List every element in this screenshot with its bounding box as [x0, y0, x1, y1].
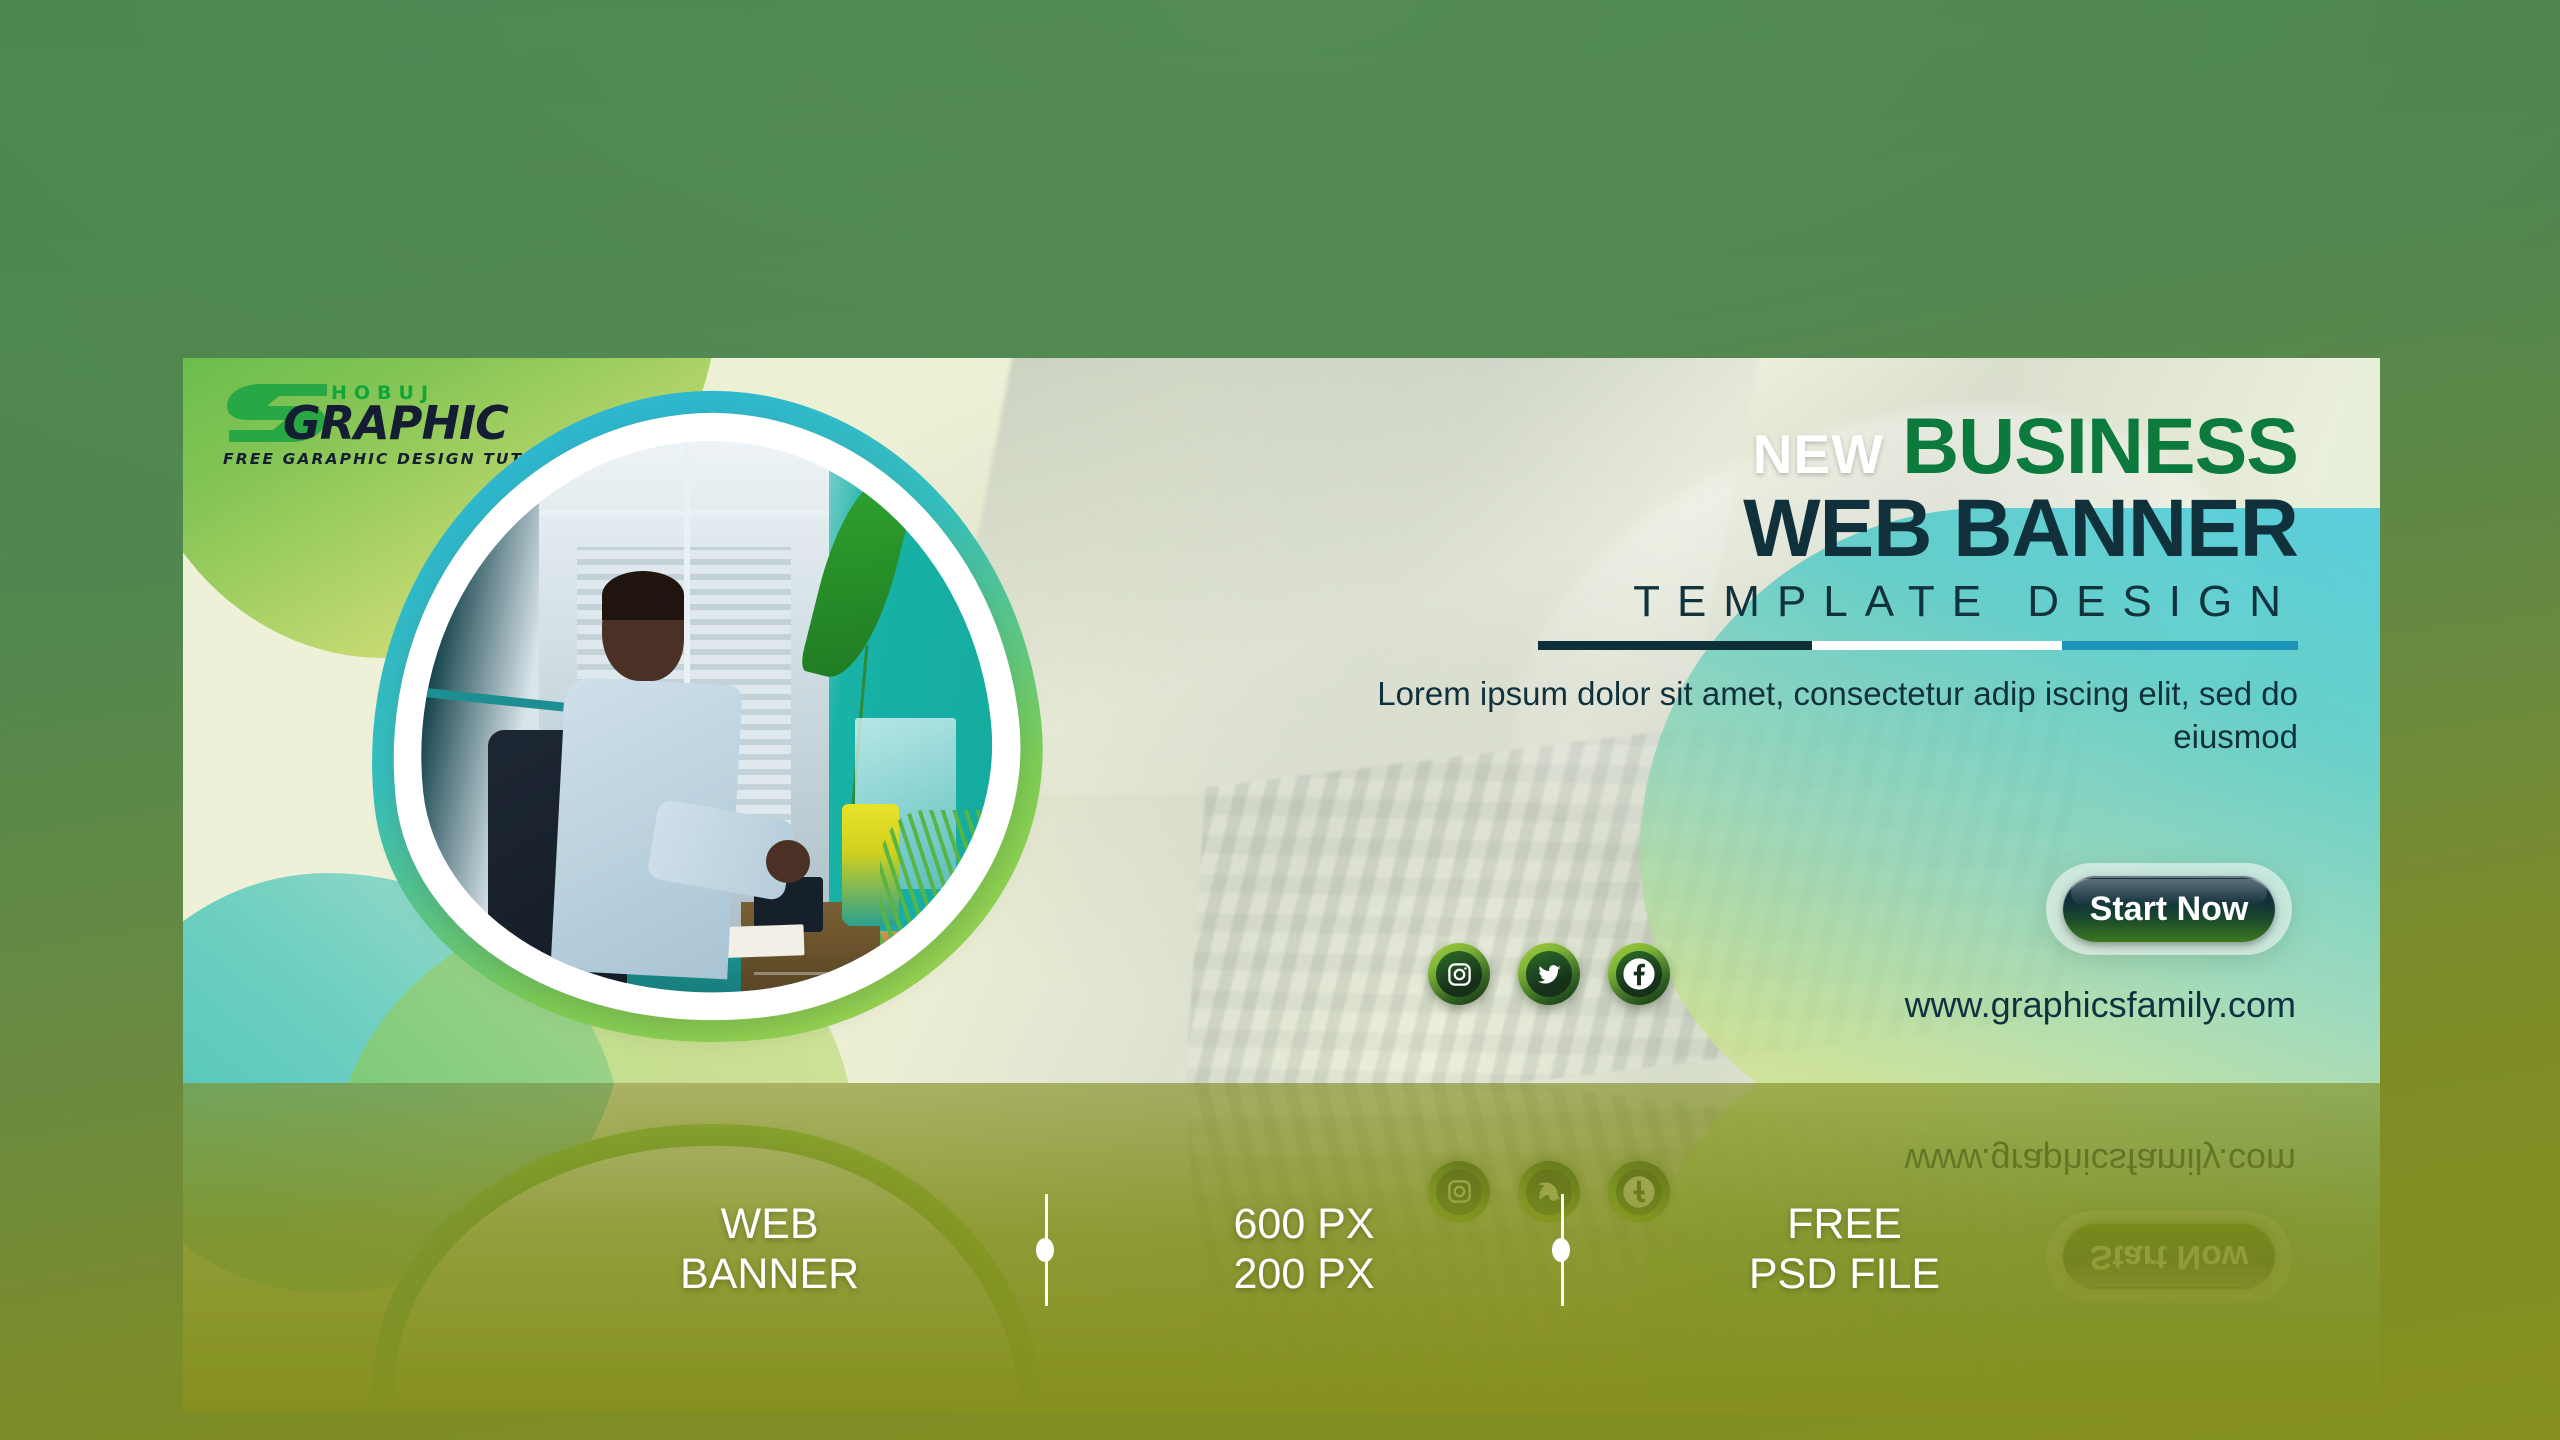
banner-copy: NEW BUSINESS WEB BANNER TEMPLATE DESIGN … [1288, 406, 2298, 759]
rule-segment-teal [2062, 641, 2298, 650]
reflected-cta-halo: Start Now [2046, 1211, 2292, 1303]
twitter-icon-inner [1526, 951, 1572, 997]
headline-eyebrow: NEW [1753, 427, 1884, 482]
spec-item-format: FREE PSD FILE [1749, 1200, 1940, 1300]
spec-item-size: 600 PX 200 PX [1233, 1200, 1374, 1300]
headline-highlight: BUSINESS [1902, 406, 2298, 485]
instagram-icon[interactable] [1428, 943, 1490, 1005]
twitter-icon[interactable] [1518, 943, 1580, 1005]
reflected-website-url: www.graphicsfamily.com [1905, 1140, 2296, 1182]
instagram-icon-inner [1436, 951, 1482, 997]
scene-person-hair [602, 571, 684, 620]
website-url[interactable]: www.graphicsfamily.com [1905, 984, 2296, 1026]
photo-clip [390, 414, 1017, 1023]
divider-rule [1538, 641, 2298, 650]
spec-item-type: WEB BANNER [680, 1200, 859, 1300]
facebook-icon[interactable] [1608, 943, 1670, 1005]
headline-row: NEW BUSINESS [1288, 406, 2298, 485]
headline-main: WEB BANNER [1288, 487, 2298, 571]
scene-foliage [880, 810, 994, 945]
web-banner: HOBUJ GRAPHIC FREE GARAPHIC DESIGN TUTOR… [183, 358, 2380, 1083]
social-links [1428, 943, 1670, 1005]
facebook-icon-inner [1616, 951, 1662, 997]
rule-segment-dark [1538, 641, 1812, 650]
start-now-button[interactable]: Start Now [2063, 876, 2275, 942]
spec-divider [1043, 1194, 1049, 1306]
scene-window-mullion-horizontal [539, 510, 830, 516]
spec-divider-dot [1036, 1238, 1054, 1262]
cta-halo: Start Now [2046, 863, 2292, 955]
office-scene [390, 414, 1017, 1023]
reflected-start-now-button: Start Now [2063, 1224, 2275, 1290]
spec-strip: WEB BANNER 600 PX 200 PX FREE PSD FILE [680, 1175, 1940, 1325]
banner-stage: HOBUJ GRAPHIC FREE GARAPHIC DESIGN TUTOR… [183, 358, 2380, 1083]
hero-photo [383, 408, 1023, 1028]
body-paragraph: Lorem ipsum dolor sit amet, consectetur … [1288, 672, 2298, 759]
reflected-teal-blob-bl [183, 1083, 623, 1293]
scene-drawer-handle [754, 972, 868, 975]
rule-segment-white [1812, 641, 2063, 650]
headline-sub: TEMPLATE DESIGN [1288, 577, 2298, 627]
spec-divider-dot [1552, 1238, 1570, 1262]
spec-divider [1559, 1194, 1565, 1306]
